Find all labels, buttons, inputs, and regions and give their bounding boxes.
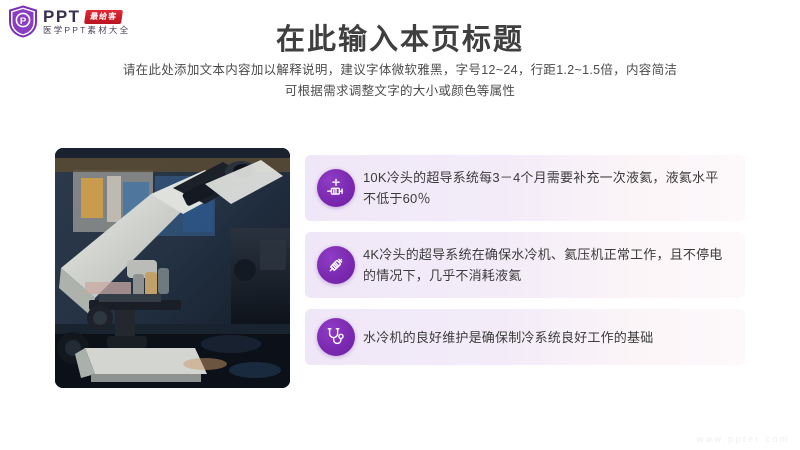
content-card-2-text: 4K冷头的超导系统在确保水冷机、氦压机正常工作，且不停电的情况下，几乎不消耗液氦 [363, 244, 729, 286]
content-card-1-text: 10K冷头的超导系统每3－4个月需要补充一次液氦，液氦水平不低于60％ [363, 167, 729, 209]
stethoscope-icon [317, 318, 355, 356]
content-card-2[interactable]: 4K冷头的超导系统在确保水冷机、氦压机正常工作，且不停电的情况下，几乎不消耗液氦 [305, 232, 745, 298]
subtitle-line-1: 请在此处添加文本内容加以解释说明，建议字体微软雅黑，字号12~24，行距1.2~… [0, 60, 800, 81]
content-card-3-text: 水冷机的良好维护是确保制冷系统良好工作的基础 [363, 327, 653, 348]
content-card-1[interactable]: 10K冷头的超导系统每3－4个月需要补充一次液氦，液氦水平不低于60％ [305, 155, 745, 221]
page-title: 在此输入本页标题 [0, 16, 800, 58]
syringe-cross-icon [317, 169, 355, 207]
content-card-3[interactable]: 水冷机的良好维护是确保制冷系统良好工作的基础 [305, 309, 745, 365]
slide-canvas: P PPT 最给客 医学PPT素材大全 在此输入本页标题 请在此处添加文本内容加… [0, 0, 800, 450]
site-watermark: www.ppter.com [696, 434, 790, 444]
syringe-icon [317, 246, 355, 284]
microscope-photo [55, 148, 290, 388]
content-card-list: 10K冷头的超导系统每3－4个月需要补充一次液氦，液氦水平不低于60％ 4K冷头… [305, 155, 745, 376]
subtitle-line-2: 可根据需求调整文字的大小或颜色等属性 [0, 81, 800, 102]
page-subtitle: 请在此处添加文本内容加以解释说明，建议字体微软雅黑，字号12~24，行距1.2~… [0, 60, 800, 102]
